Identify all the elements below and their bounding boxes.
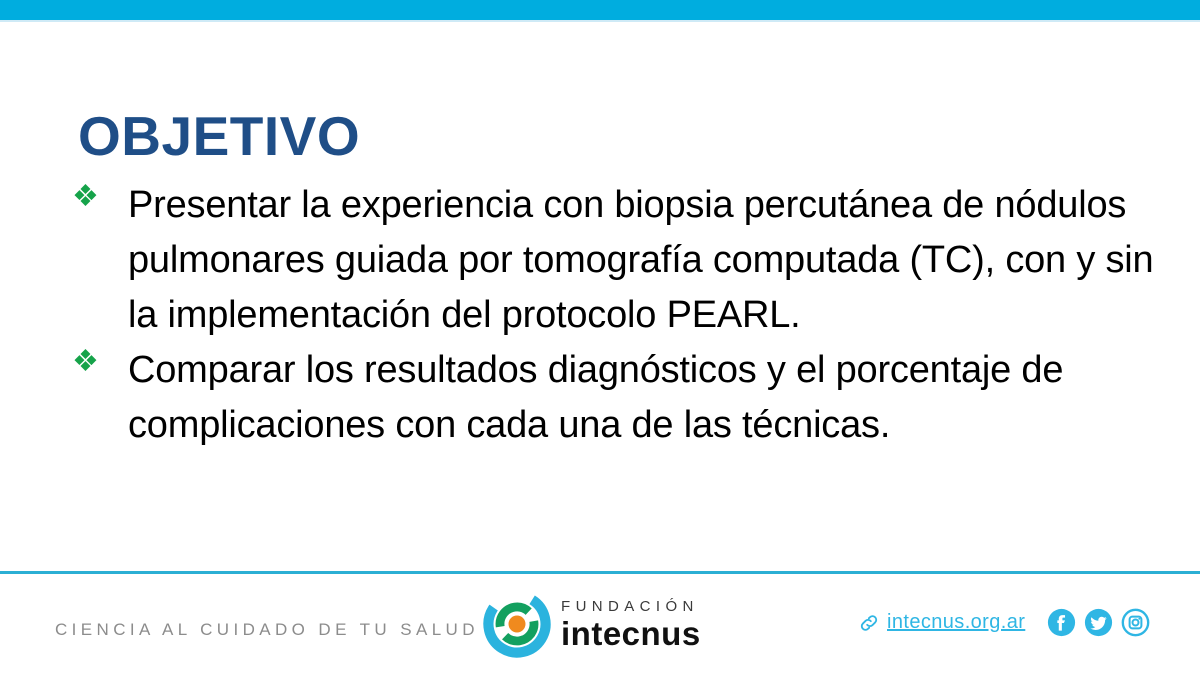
objectives-list: ❖ Presentar la experiencia con biopsia p… — [70, 178, 1160, 453]
diamond-bullet-icon: ❖ — [72, 182, 99, 212]
facebook-icon[interactable] — [1047, 608, 1076, 637]
top-accent-bar-shadow — [0, 20, 1200, 22]
diamond-bullet-icon: ❖ — [72, 347, 99, 377]
intecnus-logo-mark-icon — [483, 590, 551, 658]
footer: CIENCIA AL CUIDADO DE TU SALUD FUNDACIÓN… — [0, 574, 1200, 675]
brand-wordmark-line2: intecnus — [561, 617, 701, 650]
list-item-text: Presentar la experiencia con biopsia per… — [128, 184, 1153, 336]
brand-wordmark-line1: FUNDACIÓN — [561, 599, 701, 614]
twitter-icon[interactable] — [1084, 608, 1113, 637]
list-item: ❖ Presentar la experiencia con biopsia p… — [70, 178, 1160, 343]
footer-contact: intecnus.org.ar — [858, 608, 1150, 637]
social-links — [1047, 608, 1150, 637]
page-title: OBJETIVO — [78, 109, 360, 164]
footer-tagline: CIENCIA AL CUIDADO DE TU SALUD — [55, 620, 479, 640]
list-item-text: Comparar los resultados diagnósticos y e… — [128, 349, 1063, 446]
slide: OBJETIVO ❖ Presentar la experiencia con … — [0, 0, 1200, 675]
link-icon — [858, 612, 880, 634]
brand-wordmark: FUNDACIÓN intecnus — [561, 599, 701, 650]
website-link[interactable]: intecnus.org.ar — [887, 611, 1025, 634]
brand-logo: FUNDACIÓN intecnus — [483, 590, 701, 658]
instagram-icon[interactable] — [1121, 608, 1150, 637]
top-accent-bar — [0, 0, 1200, 20]
list-item: ❖ Comparar los resultados diagnósticos y… — [70, 343, 1160, 453]
